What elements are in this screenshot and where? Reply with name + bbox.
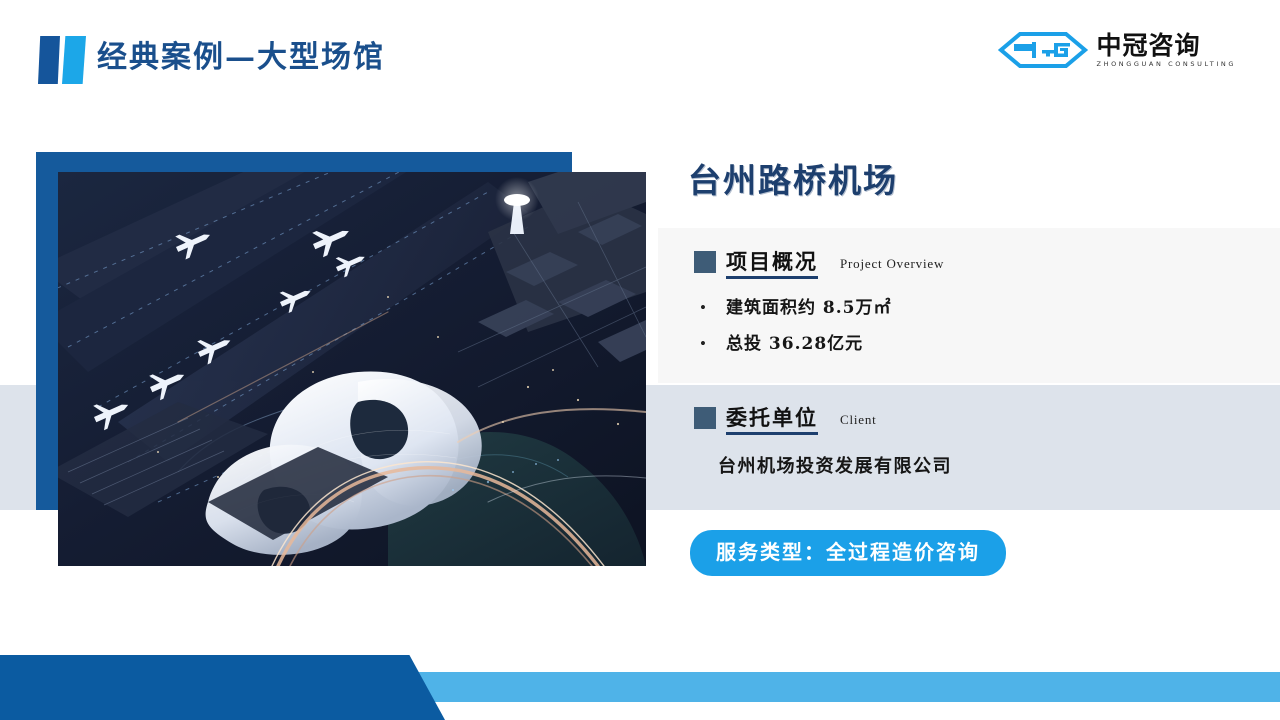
bullet-dot-icon: • (700, 332, 726, 356)
list-item: • 建筑面积约 8.5万㎡ (700, 296, 1260, 320)
section-label-block: 委托单位 (726, 404, 818, 435)
section-marker-square-icon (694, 407, 716, 429)
section-underline (726, 432, 818, 435)
header-accent-slab-light (62, 36, 86, 84)
section-header-client: 委托单位 Client (694, 404, 877, 435)
section-label-en: Project Overview (840, 256, 944, 272)
airport-aerial-render (58, 172, 646, 566)
page-title: 经典案例—大型场馆 (97, 36, 385, 80)
project-title: 台州路桥机场 (688, 158, 898, 204)
section-header-overview: 项目概况 Project Overview (694, 248, 944, 279)
section-marker-square-icon (694, 251, 716, 273)
header-accent-icon (38, 36, 86, 84)
logo-text-block: 中冠咨询 ZHONGGUAN CONSULTING (1097, 32, 1236, 69)
overview-bullet-list: • 建筑面积约 8.5万㎡ • 总投 36.28亿元 (700, 296, 1260, 368)
header-accent-slab-dark (38, 36, 60, 84)
list-item: • 总投 36.28亿元 (700, 332, 1260, 356)
logo-name-cn: 中冠咨询 (1097, 32, 1236, 59)
footer-band-dark (0, 655, 445, 720)
client-company-name: 台州机场投资发展有限公司 (718, 454, 952, 480)
footer-band-light (405, 672, 1280, 702)
bullet-dot-icon: • (700, 296, 726, 320)
project-photo (58, 172, 646, 566)
service-type-badge: 服务类型：全过程造价咨询 (690, 530, 1006, 576)
slide-header: 经典案例—大型场馆 中冠咨询 ZHONGGUAN CONSULTING (0, 0, 1280, 110)
company-logo: 中冠咨询 ZHONGGUAN CONSULTING (998, 26, 1236, 74)
section-label-cn: 项目概况 (726, 248, 818, 275)
section-label-en: Client (840, 412, 877, 428)
section-label-block: 项目概况 (726, 248, 818, 279)
zg-hexagon-logo-icon (998, 30, 1088, 70)
section-label-cn: 委托单位 (726, 404, 818, 431)
section-underline (726, 276, 818, 279)
list-item-text: 建筑面积约 8.5万㎡ (726, 296, 892, 320)
list-item-text: 总投 36.28亿元 (726, 332, 863, 356)
slide-canvas: 经典案例—大型场馆 中冠咨询 ZHONGGUAN CONSULTING (0, 0, 1280, 720)
logo-name-en: ZHONGGUAN CONSULTING (1097, 59, 1236, 69)
